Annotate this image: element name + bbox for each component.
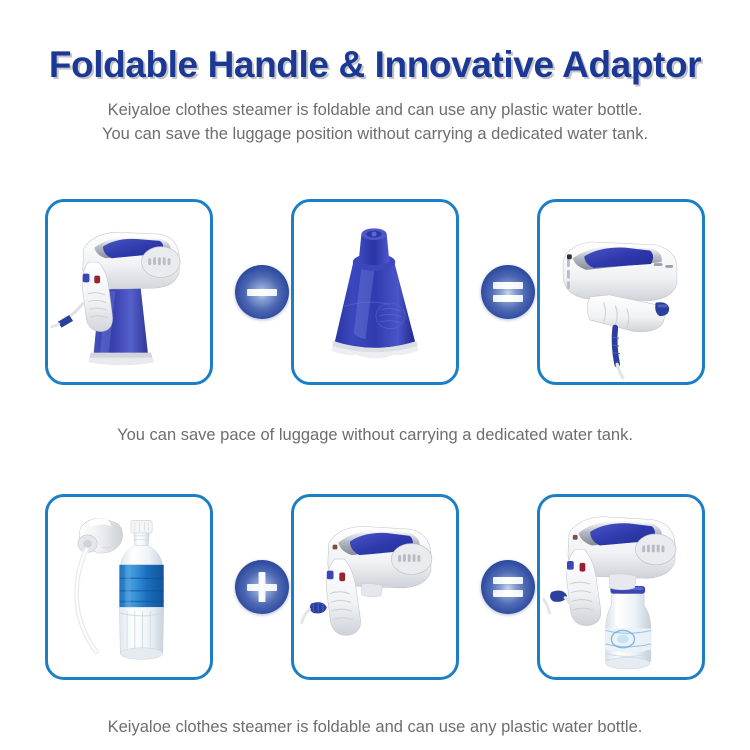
equals-icon-bar-top — [493, 577, 523, 584]
equals-badge — [481, 265, 535, 319]
subtitle-line-2: You can save the luggage position withou… — [0, 123, 750, 147]
page-title: Foldable Handle & Innovative Adaptor — [0, 0, 750, 85]
plus-badge — [235, 560, 289, 614]
comparison-row-1 — [45, 199, 705, 385]
panel-adaptor-and-plastic-bottle — [45, 494, 213, 680]
caption-row-1: You can save pace of luggage without car… — [0, 426, 750, 445]
equals-icon-bar-top — [493, 282, 523, 289]
panel-steamer-mounted-on-bottle — [537, 494, 705, 680]
comparison-row-2 — [45, 494, 705, 680]
panel-steamer-without-tank — [291, 494, 459, 680]
detachable-water-tank-image — [294, 202, 456, 382]
equals-icon-bar-bottom — [493, 590, 523, 597]
subtitle-line-1: Keiyaloe clothes steamer is foldable and… — [0, 99, 750, 123]
adaptor-and-plastic-bottle-image — [48, 497, 210, 677]
panel-steamer-with-water-tank — [45, 199, 213, 385]
minus-badge — [235, 265, 289, 319]
steamer-folded-handle-image — [540, 202, 702, 382]
equals-icon-bar-bottom — [493, 295, 523, 302]
caption-row-2: Keiyaloe clothes steamer is foldable and… — [0, 718, 750, 737]
header: Foldable Handle & Innovative Adaptor Kei… — [0, 0, 750, 147]
steamer-without-tank-image — [294, 497, 456, 677]
page-subtitle: Keiyaloe clothes steamer is foldable and… — [0, 85, 750, 147]
panel-detachable-water-tank — [291, 199, 459, 385]
steamer-with-water-tank-image — [48, 202, 210, 382]
steamer-mounted-on-bottle-image — [540, 497, 702, 677]
plus-icon-bar-vertical — [259, 572, 266, 602]
panel-steamer-folded-handle — [537, 199, 705, 385]
minus-icon — [247, 289, 277, 296]
equals-badge — [481, 560, 535, 614]
